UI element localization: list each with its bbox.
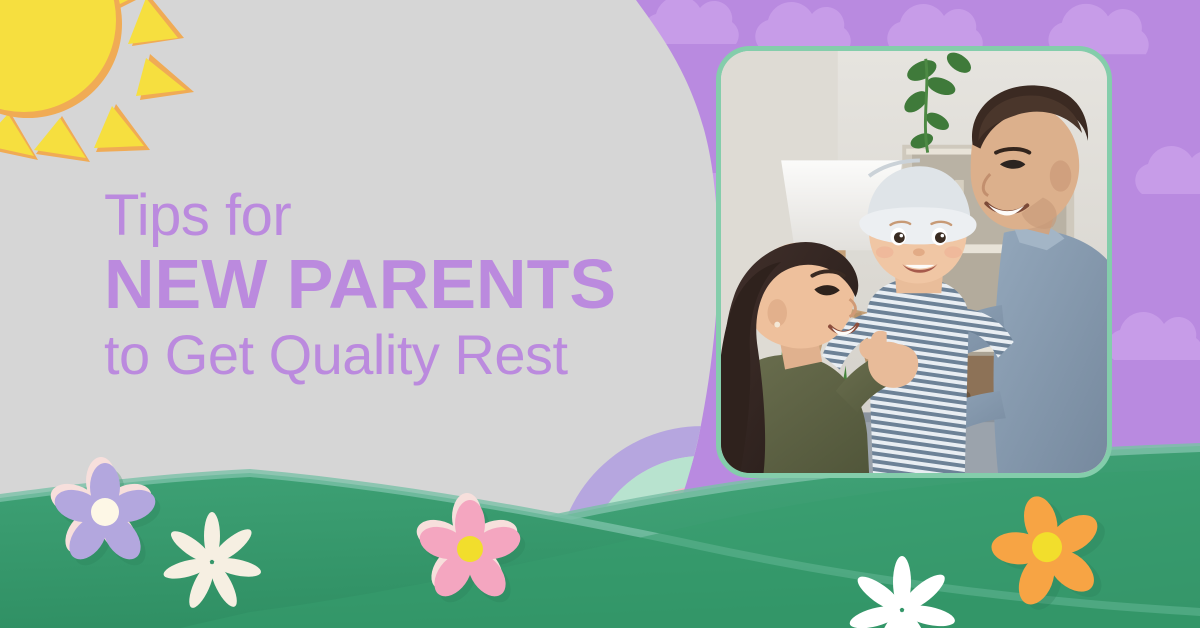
flower-center (91, 498, 119, 526)
family-photo (716, 46, 1112, 478)
family-photo-illustration (721, 51, 1107, 473)
banner-root: Tips for NEW PARENTS to Get Quality Rest (0, 0, 1200, 628)
flower-center (457, 536, 483, 562)
